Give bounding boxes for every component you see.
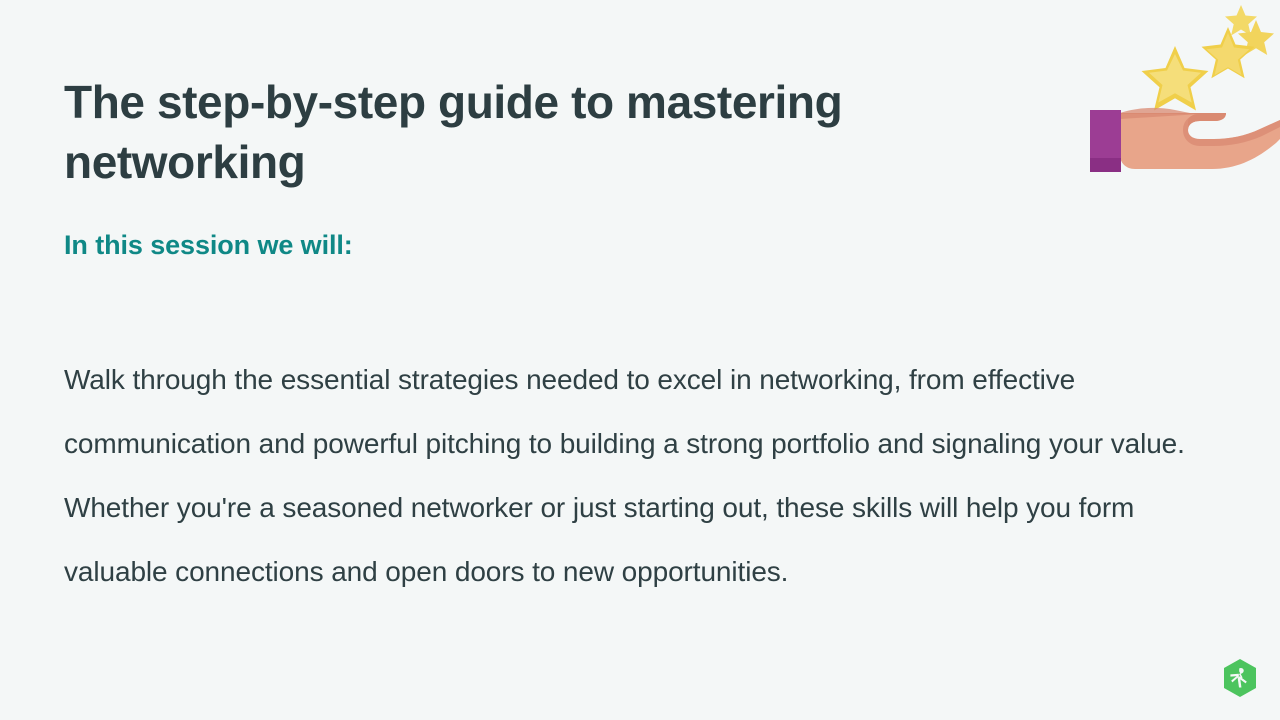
section-subtitle: In this session we will: xyxy=(64,224,353,266)
star-icon-2 xyxy=(1202,27,1255,78)
star-icon-4 xyxy=(1225,5,1257,36)
open-hand-icon xyxy=(1120,108,1280,169)
sleeve-cuff xyxy=(1090,110,1121,172)
star-icon-1 xyxy=(1142,46,1209,111)
star-icon-3 xyxy=(1238,20,1274,55)
brand-logo[interactable] xyxy=(1222,658,1258,698)
hand-holding-stars-illustration xyxy=(1080,0,1280,190)
slide-canvas: The step-by-step guide to mastering netw… xyxy=(0,0,1280,720)
body-paragraph: Walk through the essential strategies ne… xyxy=(64,348,1229,604)
page-title: The step-by-step guide to mastering netw… xyxy=(64,72,964,192)
